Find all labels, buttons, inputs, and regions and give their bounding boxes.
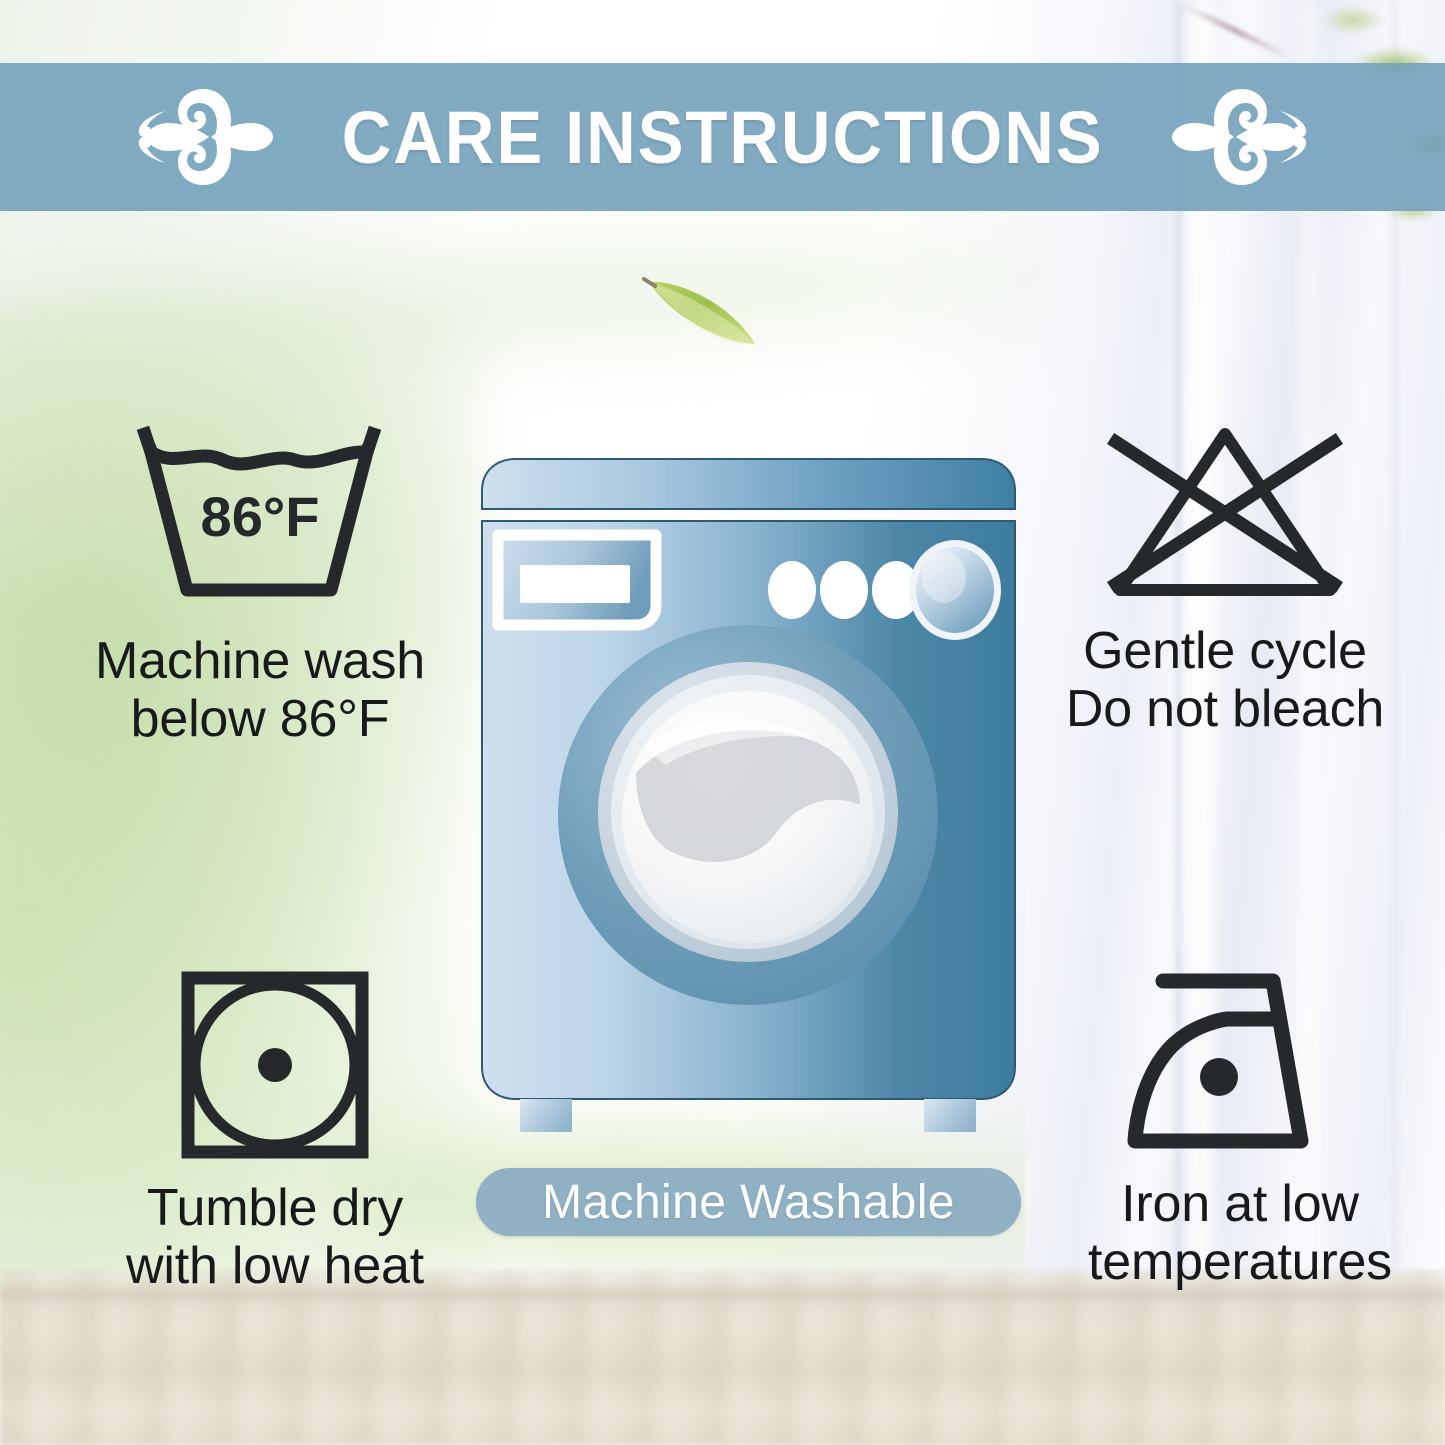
fleur-de-lis-ornament-right-icon (1172, 83, 1312, 191)
care-caption-machine-wash: Machine wash below 86°F (95, 632, 425, 748)
header-banner: CARE INSTRUCTIONS (0, 63, 1445, 211)
floating-leaf-icon (641, 272, 761, 350)
infographic-canvas: CARE INSTRUCTIONS (0, 0, 1445, 1445)
care-item-do-not-bleach: Gentle cycle Do not bleach (1010, 418, 1440, 738)
care-item-machine-wash: 86°F Machine wash below 86°F (40, 418, 480, 748)
washer-foot-left (520, 1099, 572, 1132)
background-foliage-top (60, 200, 1180, 380)
care-item-tumble-dry: Tumble dry with low heat (60, 965, 490, 1295)
do-not-bleach-triangle-icon (1094, 418, 1356, 608)
wash-temperature-value: 86°F (201, 485, 320, 548)
machine-washable-badge: Machine Washable (476, 1168, 1021, 1236)
washer-lid (482, 459, 1015, 509)
detergent-drawer-slot (520, 565, 630, 603)
care-caption-iron: Iron at low temperatures (1088, 1175, 1392, 1291)
wash-tub-icon: 86°F (129, 418, 391, 618)
machine-washable-label: Machine Washable (542, 1175, 955, 1230)
indicator-light (820, 561, 868, 619)
tumble-dry-low-heat-dot (258, 1048, 292, 1082)
care-caption-do-not-bleach: Gentle cycle Do not bleach (1066, 622, 1384, 738)
washing-machine-illustration (476, 447, 1021, 1132)
page-title: CARE INSTRUCTIONS (342, 95, 1104, 180)
iron-icon (1115, 965, 1365, 1161)
control-knob-highlight (922, 551, 966, 603)
indicator-light (768, 561, 816, 619)
washer-foot-right (924, 1099, 976, 1132)
fleur-de-lis-ornament-left-icon (133, 83, 273, 191)
iron-low-temp-dot (1200, 1058, 1238, 1096)
care-caption-tumble-dry: Tumble dry with low heat (126, 1179, 424, 1295)
tumble-dry-square-icon (171, 965, 379, 1165)
care-item-iron: Iron at low temperatures (1030, 965, 1445, 1291)
